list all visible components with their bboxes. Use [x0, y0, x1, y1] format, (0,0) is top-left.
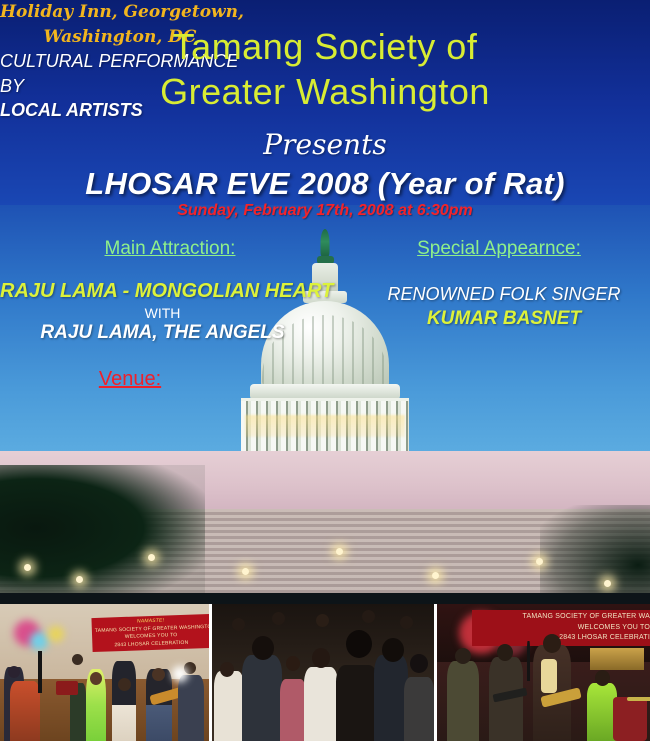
- event-poster: Tamang Society of Greater Washington Pre…: [0, 0, 650, 741]
- person-photographer: [178, 675, 204, 741]
- person-head: [232, 618, 245, 631]
- stage-light: [48, 626, 64, 642]
- photo-c-banner-line2: WELCOMES YOU TO: [475, 623, 650, 634]
- person-head: [595, 670, 610, 686]
- main-attraction-label: Main Attraction:: [20, 238, 320, 260]
- freedom-statue-icon: [321, 229, 330, 257]
- street-lamp-icon: [76, 576, 83, 583]
- street-lamp-icon: [432, 572, 439, 579]
- photo-a-welcome-banner: NAMASTE! TAMANG SOCIETY OF GREATER WASHI…: [91, 614, 209, 652]
- venue-label: Venue:: [20, 368, 240, 391]
- drum-kit-icon: [613, 697, 647, 741]
- mic-stand-icon: [527, 641, 530, 681]
- photo-c-welcome-banner: TAMANG SOCIETY OF GREATER WA WELCOMES YO…: [472, 610, 650, 646]
- presents-label: Presents: [0, 128, 650, 161]
- mic-stand-icon: [38, 651, 42, 693]
- street-lamp-icon: [336, 548, 343, 555]
- street-lamp-icon: [24, 564, 31, 571]
- capitol-building-body: [0, 451, 650, 605]
- event-headline: LHOSAR EVE 2008 (Year of Rat): [0, 166, 650, 202]
- person-head: [118, 678, 131, 691]
- person-silhouette: [404, 677, 434, 741]
- person-silhouette: [214, 671, 244, 741]
- person-head: [8, 666, 20, 678]
- venue-address-line1: Holiday Inn, Georgetown,: [0, 0, 240, 25]
- person-head: [543, 634, 561, 653]
- street-lamp-icon: [604, 580, 611, 587]
- person-head: [410, 654, 428, 673]
- person-head: [362, 610, 375, 623]
- singer-scarf: [541, 659, 557, 693]
- photo-c-banner-line1: TAMANG SOCIETY OF GREATER WA: [475, 612, 650, 623]
- photo-c-banner-line3: 2843 LHOSAR CELEBRATI: [475, 633, 650, 644]
- main-artist-name: RAJU LAMA - MONGOLIAN HEART: [0, 280, 325, 303]
- person-head: [316, 614, 329, 627]
- folk-singer-name: KUMAR BASNET: [364, 308, 644, 330]
- person-head: [497, 644, 513, 661]
- photo-crowd-dancing: [212, 604, 434, 741]
- stage-equipment: [10, 681, 40, 741]
- person-head: [400, 616, 413, 629]
- person-musician: [447, 661, 479, 741]
- foreground-trees-right: [540, 505, 650, 605]
- person-silhouette: [374, 655, 408, 741]
- folk-singer-title: RENOWNED FOLK SINGER: [364, 284, 644, 305]
- event-photo-strip: NAMASTE! TAMANG SOCIETY OF GREATER WASHI…: [0, 604, 650, 741]
- cymbal-icon: [627, 697, 650, 701]
- organization-title: Tamang Society of Greater Washington: [0, 24, 650, 114]
- organization-title-line2: Greater Washington: [0, 69, 650, 114]
- person-silhouette: [242, 655, 282, 741]
- supporting-artist-name: RAJU LAMA, THE ANGELS: [0, 322, 325, 344]
- person-silhouette: [336, 665, 378, 741]
- person-head: [252, 636, 274, 660]
- event-date-time: Sunday, February 17th, 2008 at 6:30pm: [0, 202, 650, 220]
- street-lamp-icon: [536, 558, 543, 565]
- camera-flash: [172, 666, 188, 682]
- stage-light: [30, 632, 48, 650]
- person-head: [90, 672, 102, 685]
- person-silhouette: [304, 667, 338, 741]
- person-head: [152, 668, 165, 681]
- person-silhouette: [280, 679, 306, 741]
- capitol-building-photo: [0, 205, 650, 605]
- foreground-trees-left: [0, 465, 205, 605]
- person-head: [455, 648, 471, 664]
- person-head: [220, 662, 234, 677]
- person-head: [286, 656, 300, 671]
- person-silhouette: [112, 661, 136, 741]
- person-head: [382, 638, 404, 662]
- person-head: [272, 612, 285, 625]
- person-head: [312, 648, 330, 668]
- organization-title-line1: Tamang Society of: [0, 24, 650, 69]
- street-lamp-icon: [148, 554, 155, 561]
- person-head: [72, 654, 83, 665]
- special-appearance-label: Special Appearnce:: [364, 238, 634, 260]
- photo-band-performance: NAMASTE! TAMANG SOCIETY OF GREATER WASHI…: [0, 604, 209, 741]
- colonnade-glow: [245, 415, 405, 437]
- photo-stage-musicians: TAMANG SOCIETY OF GREATER WA WELCOMES YO…: [437, 604, 650, 741]
- music-stand-icon: [56, 681, 78, 695]
- with-connector: WITH: [0, 305, 325, 321]
- person-head: [346, 630, 372, 658]
- street-lamp-icon: [242, 568, 249, 575]
- stage-speaker: [590, 648, 644, 670]
